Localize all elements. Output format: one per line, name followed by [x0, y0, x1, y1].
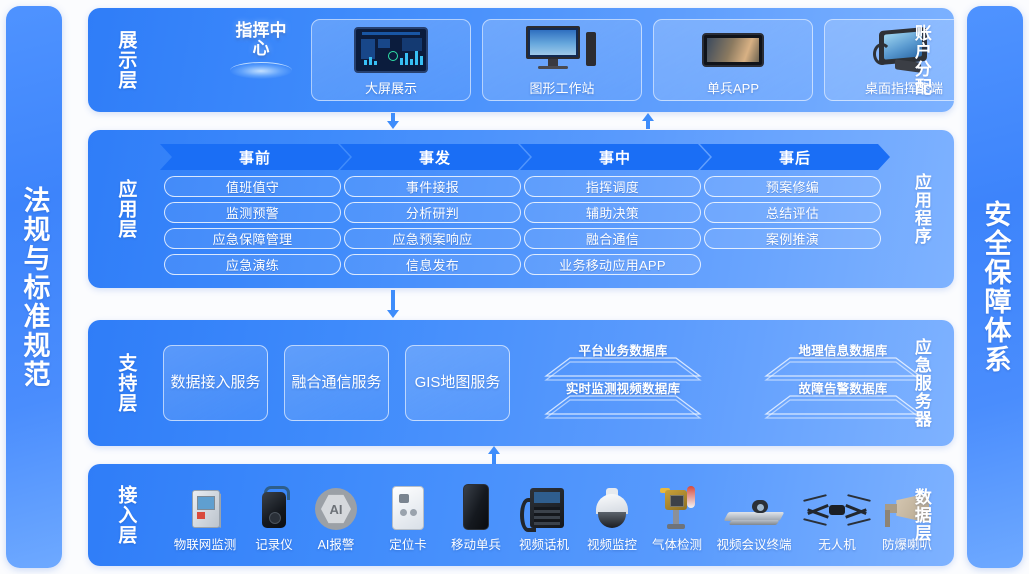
application-layer-band: 应用层 事前 事发 事中 事后 值班值守 监测预警 应急保障管理 应急演练 事件…: [88, 130, 954, 288]
phase-title: 事中: [599, 147, 631, 168]
app-item-pill[interactable]: 预案修编: [704, 176, 881, 197]
access-device-video-conference[interactable]: 视频会议终端: [708, 478, 800, 553]
support-layer-band: 支持层 数据接入服务 融合通信服务 GIS地图服务 平台业务数据库 地理信息数据…: [88, 320, 954, 446]
access-device-caption: 气体检测: [652, 534, 702, 553]
app-item-pill[interactable]: 辅助决策: [524, 202, 701, 223]
display-to-application-down-arrow: [387, 113, 399, 129]
phone-icon: [702, 25, 764, 75]
access-device-cctv-camera[interactable]: 视频监控: [575, 478, 649, 553]
display-layer-label: 展示层: [113, 30, 138, 90]
architecture-diagram: 法规与标准规范 安全保障体系 展示层 指挥中心: [0, 0, 1029, 574]
app-item-pill[interactable]: 指挥调度: [524, 176, 701, 197]
access-device-mobile-unit[interactable]: 移动单兵: [439, 478, 513, 553]
cctv-camera-icon: [593, 478, 631, 530]
support-layer-label-wrap: 支持层: [102, 320, 148, 446]
database-realtime-video[interactable]: 实时监测视频数据库: [540, 380, 706, 420]
phase-chevron-occur: 事发: [340, 144, 530, 170]
access-layer-right-label-wrap: 数据层: [900, 464, 942, 566]
app-item-pill[interactable]: 值班值守: [164, 176, 341, 197]
app-item-pill[interactable]: 总结评估: [704, 202, 881, 223]
access-device-caption: 视频会议终端: [716, 534, 791, 553]
application-layer-right-label: 应用程序: [910, 173, 932, 245]
access-device-iot-monitor[interactable]: 物联网监测: [168, 478, 242, 553]
service-card-fusion-comm[interactable]: 融合通信服务: [284, 345, 389, 421]
app-item-label: 事件接报: [406, 177, 459, 196]
database-platform-business[interactable]: 平台业务数据库: [540, 342, 706, 382]
app-item-label: 分析研判: [406, 203, 459, 222]
gas-detector-icon: [657, 478, 697, 530]
display-card-soldier-app[interactable]: 单兵APP: [653, 19, 813, 101]
access-device-ai-alarm[interactable]: AI AI报警: [299, 478, 373, 553]
display-card-caption: 大屏展示: [365, 78, 417, 97]
app-item-label: 应急预案响应: [393, 229, 473, 248]
phase-chevron-during: 事中: [520, 144, 710, 170]
access-layer-label-wrap: 接入层: [102, 464, 148, 566]
regulations-rail: 法规与标准规范: [6, 6, 62, 568]
command-center-badge: 指挥中心: [228, 22, 294, 96]
service-card-label: 数据接入服务: [170, 373, 260, 393]
video-conference-icon: [726, 478, 782, 530]
database-label: 平台业务数据库: [540, 340, 706, 359]
app-item-pill[interactable]: 案例推演: [704, 228, 881, 249]
display-layer-band: 展示层 指挥中心: [88, 8, 954, 112]
ai-alarm-icon: AI: [315, 478, 357, 530]
app-item-label: 信息发布: [406, 255, 459, 274]
display-card-caption: 单兵APP: [707, 78, 759, 97]
app-item-label: 业务移动应用APP: [559, 255, 666, 274]
app-item-label: 总结评估: [766, 203, 819, 222]
app-item-pill[interactable]: 业务移动应用APP: [524, 254, 701, 275]
app-item-pill[interactable]: 事件接报: [344, 176, 521, 197]
access-device-caption: 物联网监测: [174, 534, 237, 553]
display-layer-label-wrap: 展示层: [102, 8, 148, 112]
command-center-glow: [230, 62, 292, 79]
access-device-caption: 移动单兵: [451, 534, 501, 553]
access-to-support-up-arrow: [488, 446, 500, 464]
app-item-label: 指挥调度: [586, 177, 639, 196]
access-device-location-card[interactable]: 定位卡: [371, 478, 445, 553]
application-layer-label: 应用层: [113, 179, 138, 239]
access-device-drone[interactable]: 无人机: [800, 478, 874, 553]
video-phone-icon: [520, 478, 568, 530]
access-device-caption: 视频监控: [587, 534, 637, 553]
app-item-label: 值班值守: [226, 177, 279, 196]
application-layer-right-label-wrap: 应用程序: [900, 130, 942, 288]
access-device-caption: 定位卡: [389, 534, 427, 553]
drone-icon: [809, 478, 865, 530]
database-label: 故障告警数据库: [760, 378, 926, 397]
ai-glyph-text: AI: [321, 494, 351, 524]
security-rail: 安全保障体系: [967, 6, 1023, 568]
access-device-caption: 视频话机: [519, 534, 569, 553]
location-card-icon: [392, 478, 424, 530]
database-label: 实时监测视频数据库: [540, 378, 706, 397]
display-layer-right-label-wrap: 账户分配: [900, 8, 942, 112]
app-item-label: 案例推演: [766, 229, 819, 248]
display-card-workstation[interactable]: 图形工作站: [482, 19, 642, 101]
service-card-label: GIS地图服务: [415, 373, 501, 393]
security-rail-label: 安全保障体系: [979, 200, 1012, 374]
access-device-caption: 无人机: [818, 534, 856, 553]
service-card-data-access[interactable]: 数据接入服务: [163, 345, 268, 421]
access-device-caption: 记录仪: [255, 534, 293, 553]
app-item-pill[interactable]: 信息发布: [344, 254, 521, 275]
app-item-pill[interactable]: 应急演练: [164, 254, 341, 275]
application-to-support-down-arrow: [387, 290, 399, 318]
mobile-unit-icon: [463, 478, 489, 530]
app-item-pill[interactable]: 分析研判: [344, 202, 521, 223]
support-layer-label: 支持层: [113, 353, 138, 413]
app-item-label: 应急演练: [226, 255, 279, 274]
phase-title: 事后: [779, 147, 811, 168]
access-device-caption: AI报警: [318, 534, 355, 553]
application-layer-label-wrap: 应用层: [102, 130, 148, 288]
service-card-label: 融合通信服务: [291, 373, 381, 393]
big-screen-icon: [354, 25, 428, 75]
phase-title: 事发: [419, 147, 451, 168]
display-card-big-screen[interactable]: 大屏展示: [311, 19, 471, 101]
access-layer-band: 接入层 物联网监测 记录仪 AI AI报警 定位卡: [88, 464, 954, 566]
command-center-label: 指挥中心: [228, 22, 294, 58]
app-item-label: 辅助决策: [586, 203, 639, 222]
phase-chevron-before: 事前: [160, 144, 350, 170]
service-card-gis-map[interactable]: GIS地图服务: [405, 345, 510, 421]
app-item-label: 监测预警: [226, 203, 279, 222]
app-item-pill[interactable]: 应急保障管理: [164, 228, 341, 249]
app-item-pill[interactable]: 监测预警: [164, 202, 341, 223]
regulations-rail-label: 法规与标准规范: [18, 186, 51, 389]
app-item-pill[interactable]: 融合通信: [524, 228, 701, 249]
access-device-video-phone[interactable]: 视频话机: [507, 478, 581, 553]
app-item-label: 融合通信: [586, 229, 639, 248]
application-to-display-up-arrow: [642, 113, 654, 129]
database-label: 地理信息数据库: [760, 340, 926, 359]
app-item-label: 应急保障管理: [213, 229, 293, 248]
access-layer-label: 接入层: [113, 485, 138, 545]
recorder-icon: [260, 478, 288, 530]
iot-monitor-icon: [188, 478, 222, 530]
display-card-caption: 图形工作站: [529, 78, 594, 97]
phase-chevron-after: 事后: [700, 144, 890, 170]
access-layer-right-label: 数据层: [910, 488, 932, 542]
access-device-gas-detector[interactable]: 气体检测: [640, 478, 714, 553]
workstation-icon: [526, 25, 598, 75]
display-layer-right-label: 账户分配: [910, 24, 932, 96]
app-item-pill[interactable]: 应急预案响应: [344, 228, 521, 249]
app-item-label: 预案修编: [766, 177, 819, 196]
phase-title: 事前: [239, 147, 271, 168]
